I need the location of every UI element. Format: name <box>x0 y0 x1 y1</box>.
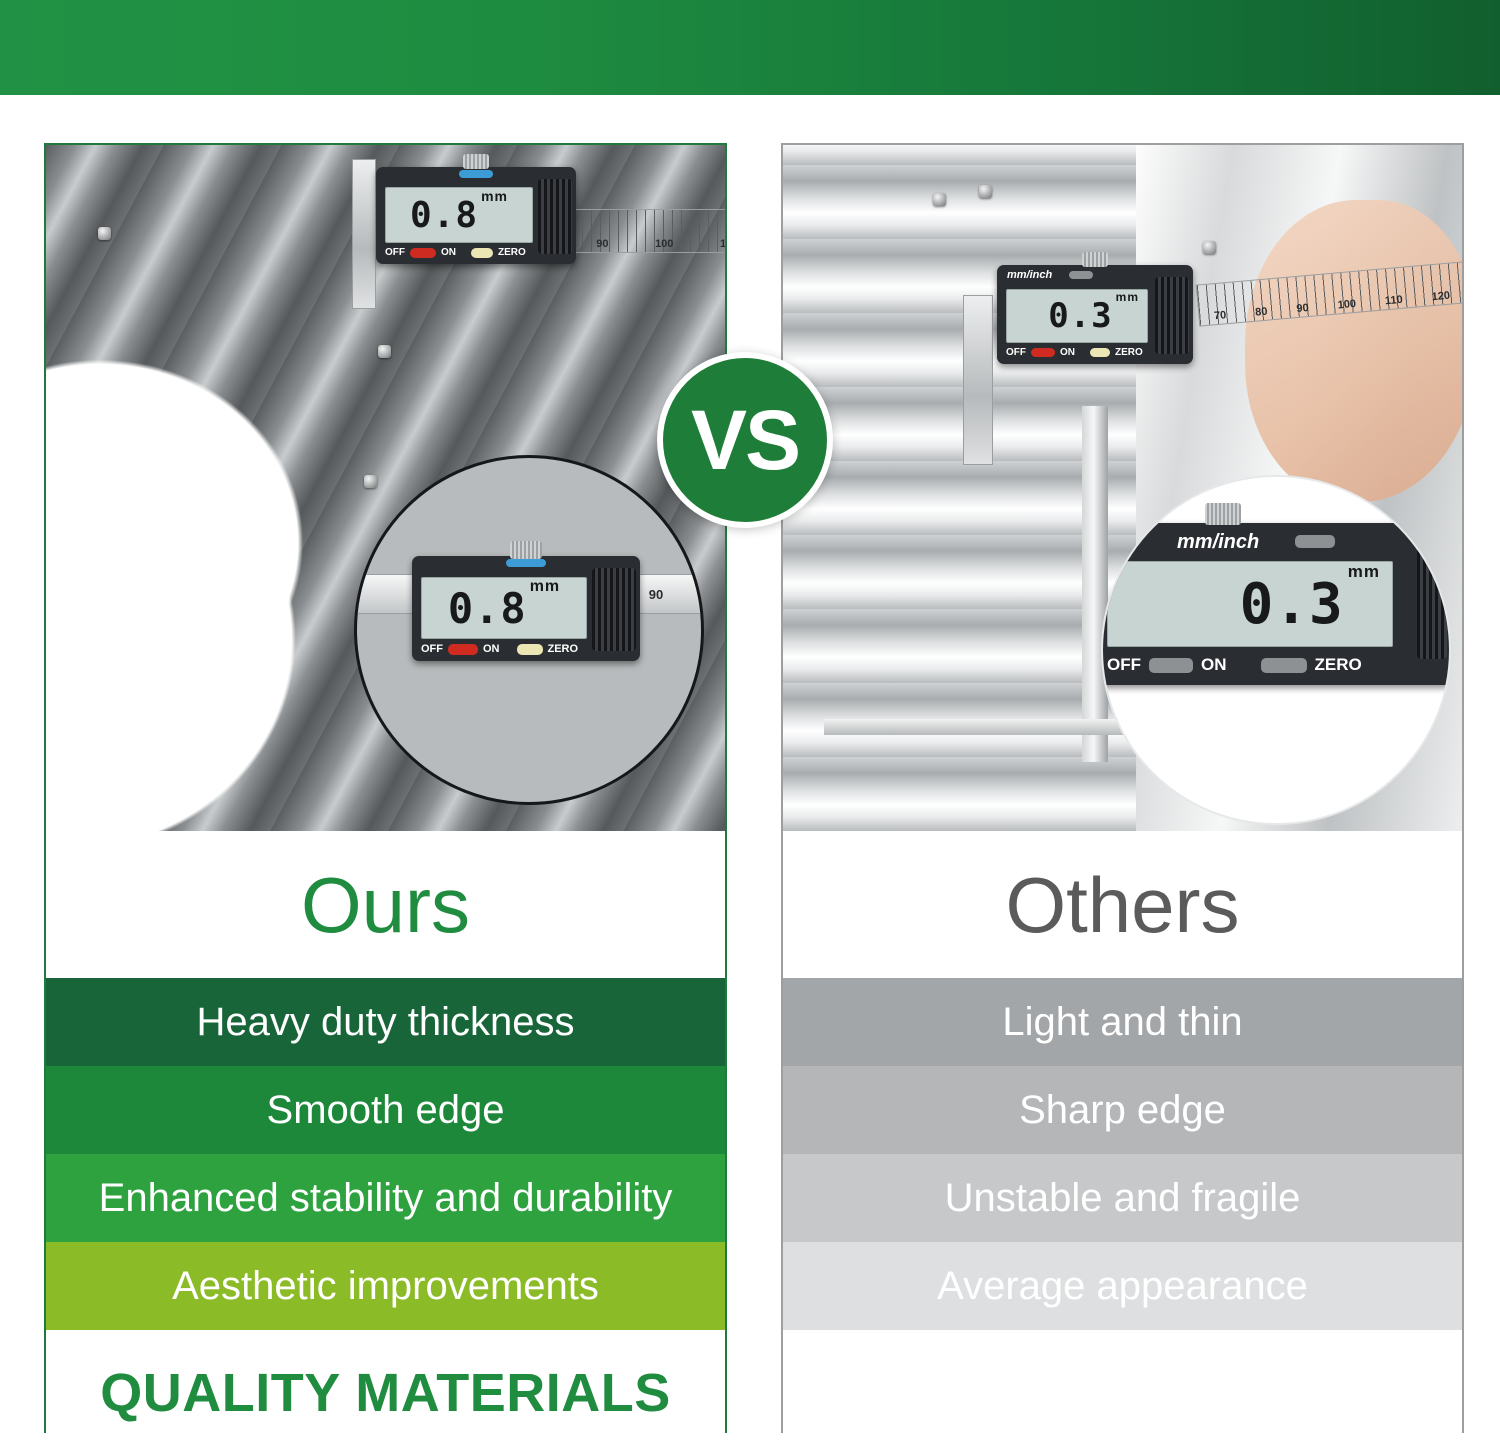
caliper-zero-label: ZERO <box>548 643 579 655</box>
feature-label: Light and thin <box>1002 1002 1242 1042</box>
caliper-value: 0.3 <box>1240 572 1344 637</box>
vs-label: VS <box>691 398 799 482</box>
caliper-zero-label: ZERO <box>498 247 526 258</box>
feature-label: Average appearance <box>937 1266 1308 1306</box>
digital-caliper-ours: 90 100 110 0.8 mm OFF ON ZERO <box>376 167 576 264</box>
feature-label: Unstable and fragile <box>945 1178 1301 1218</box>
caliper-buttons: OFF ON ZERO <box>1107 655 1439 675</box>
caliper-off-label: OFF <box>1006 347 1026 358</box>
feature-row: Smooth edge <box>46 1066 725 1154</box>
caliper-unit: mm <box>1348 562 1380 582</box>
ruler-tick: 90 <box>601 574 704 614</box>
feature-list-ours: Heavy duty thickness Smooth edge Enhance… <box>46 978 725 1330</box>
ruler-tick: 110 <box>720 238 725 250</box>
caliper-thumbwheel-icon <box>463 154 489 169</box>
caliper-unit: mm <box>530 578 560 596</box>
caliper-jaw <box>963 295 993 465</box>
feature-row: Average appearance <box>783 1242 1462 1330</box>
caliper-mode-button <box>1069 271 1093 279</box>
caliper-power-switch <box>410 248 436 258</box>
ruler-tick: 90 <box>1296 302 1309 315</box>
ruler-tick: 100 <box>1337 298 1356 312</box>
bolt-icon <box>979 185 992 198</box>
caliper-value: 0.8 <box>410 195 478 236</box>
feature-label: Smooth edge <box>267 1090 505 1130</box>
caliper-ruler <box>354 574 477 614</box>
caliper-blue-button <box>459 170 493 178</box>
magnifier-others: mm/inch 0.3 mm OFF ON ZERO <box>1101 475 1451 825</box>
bolt-icon <box>98 227 111 240</box>
caliper-ruler: 90 100 110 <box>572 209 725 253</box>
caliper-unit: mm <box>481 188 508 204</box>
feature-label: Aesthetic improvements <box>172 1266 599 1306</box>
caliper-power-switch <box>1031 348 1055 357</box>
caliper-on-label: ON <box>1201 655 1227 675</box>
caliper-value: 0.8 <box>448 584 527 633</box>
caliper-grip <box>1417 545 1447 659</box>
feature-row: Enhanced stability and durability <box>46 1154 725 1242</box>
comparison-panel-ours: 90 100 110 0.8 mm OFF ON ZERO <box>44 143 727 1433</box>
bolt-icon <box>206 615 219 628</box>
feature-label: Enhanced stability and durability <box>99 1178 673 1218</box>
bolt-icon <box>1203 241 1216 254</box>
caliper-grip <box>1155 277 1189 354</box>
feature-label: Sharp edge <box>1019 1090 1226 1130</box>
feature-label: Heavy duty thickness <box>197 1002 575 1042</box>
caliper-value: 0.3 <box>1048 296 1112 336</box>
caliper-grip <box>592 568 636 651</box>
caliper-buttons: OFF ON ZERO <box>385 247 567 258</box>
caliper-mode-label: mm/inch <box>1177 531 1259 554</box>
panel-heading-others: Others <box>783 831 1462 978</box>
caliper-zero-switch <box>471 248 493 258</box>
heading-text: Ours <box>301 866 470 944</box>
caliper-display: 0.8 mm <box>385 187 533 243</box>
feature-row: Heavy duty thickness <box>46 978 725 1066</box>
comparison-panel-others: 70 80 90 100 110 120 mm/inch 0.3 mm OFF <box>781 143 1464 1433</box>
bolt-icon <box>378 345 391 358</box>
digital-caliper-ours-zoom: 0.8 mm OFF ON ZERO <box>412 556 640 661</box>
hand <box>1245 200 1462 502</box>
ruler-tick: 70 <box>1214 309 1227 322</box>
heading-text: Others <box>1005 866 1239 944</box>
ruler-tick: 120 <box>1431 290 1450 304</box>
product-photo-ours: 90 100 110 0.8 mm OFF ON ZERO <box>46 145 725 831</box>
ruler-tick: 100 <box>655 238 673 250</box>
caliper-thumbwheel-icon <box>1205 503 1241 525</box>
product-photo-others: 70 80 90 100 110 120 mm/inch 0.3 mm OFF <box>783 145 1462 831</box>
caliper-power-switch <box>1149 658 1193 673</box>
caliper-off-label: OFF <box>1107 655 1141 675</box>
ruler-tick: 110 <box>1384 294 1403 308</box>
caliper-thumbwheel-icon <box>1082 252 1108 267</box>
caliper-display: 0.8 mm <box>421 577 587 639</box>
caliper-power-switch <box>448 644 478 655</box>
caliper-on-label: ON <box>483 643 500 655</box>
caliper-zero-label: ZERO <box>1115 347 1143 358</box>
footer-text: QUALITY MATERIALS <box>100 1362 671 1424</box>
caliper-display: 0.3 mm <box>1107 561 1393 647</box>
caliper-buttons: OFF ON ZERO <box>421 643 631 655</box>
panel-footer-ours: QUALITY MATERIALS <box>46 1330 725 1455</box>
magnifier-ours: 90 0.8 mm OFF ON ZERO <box>354 455 704 805</box>
feature-row: Unstable and fragile <box>783 1154 1462 1242</box>
feature-row: Sharp edge <box>783 1066 1462 1154</box>
bolt-icon <box>933 193 946 206</box>
caliper-zero-switch <box>1261 658 1307 673</box>
ruler-tick: 90 <box>596 238 608 250</box>
panel-heading-ours: Ours <box>46 831 725 978</box>
top-brand-bar <box>0 0 1500 95</box>
vs-badge: VS <box>657 352 833 528</box>
feature-row: Light and thin <box>783 978 1462 1066</box>
caliper-off-label: OFF <box>385 247 405 258</box>
bolt-icon <box>364 475 377 488</box>
caliper-blue-button <box>506 559 546 567</box>
feature-row: Aesthetic improvements <box>46 1242 725 1330</box>
feature-list-others: Light and thin Sharp edge Unstable and f… <box>783 978 1462 1330</box>
caliper-zero-label: ZERO <box>1315 655 1362 675</box>
metal-shelf <box>824 719 1136 735</box>
caliper-unit: mm <box>1116 290 1139 304</box>
caliper-thumbwheel-icon <box>510 541 542 559</box>
ruler-tick: 80 <box>1255 306 1268 319</box>
caliper-zero-switch <box>1090 348 1110 357</box>
bolt-icon <box>376 211 389 224</box>
caliper-mode-label: mm/inch <box>1007 269 1052 281</box>
caliper-jaw <box>352 159 376 309</box>
caliper-mode-button <box>1295 535 1335 548</box>
caliper-off-label: OFF <box>421 643 443 655</box>
caliper-zero-switch <box>517 644 543 655</box>
caliper-on-label: ON <box>1060 347 1075 358</box>
digital-caliper-others: 70 80 90 100 110 120 mm/inch 0.3 mm OFF <box>997 265 1193 364</box>
caliper-display: 0.3 mm <box>1006 289 1148 343</box>
panel-footer-others <box>783 1330 1462 1455</box>
digital-caliper-others-zoom: mm/inch 0.3 mm OFF ON ZERO <box>1101 523 1451 685</box>
caliper-grip <box>538 179 572 254</box>
caliper-on-label: ON <box>441 247 456 258</box>
